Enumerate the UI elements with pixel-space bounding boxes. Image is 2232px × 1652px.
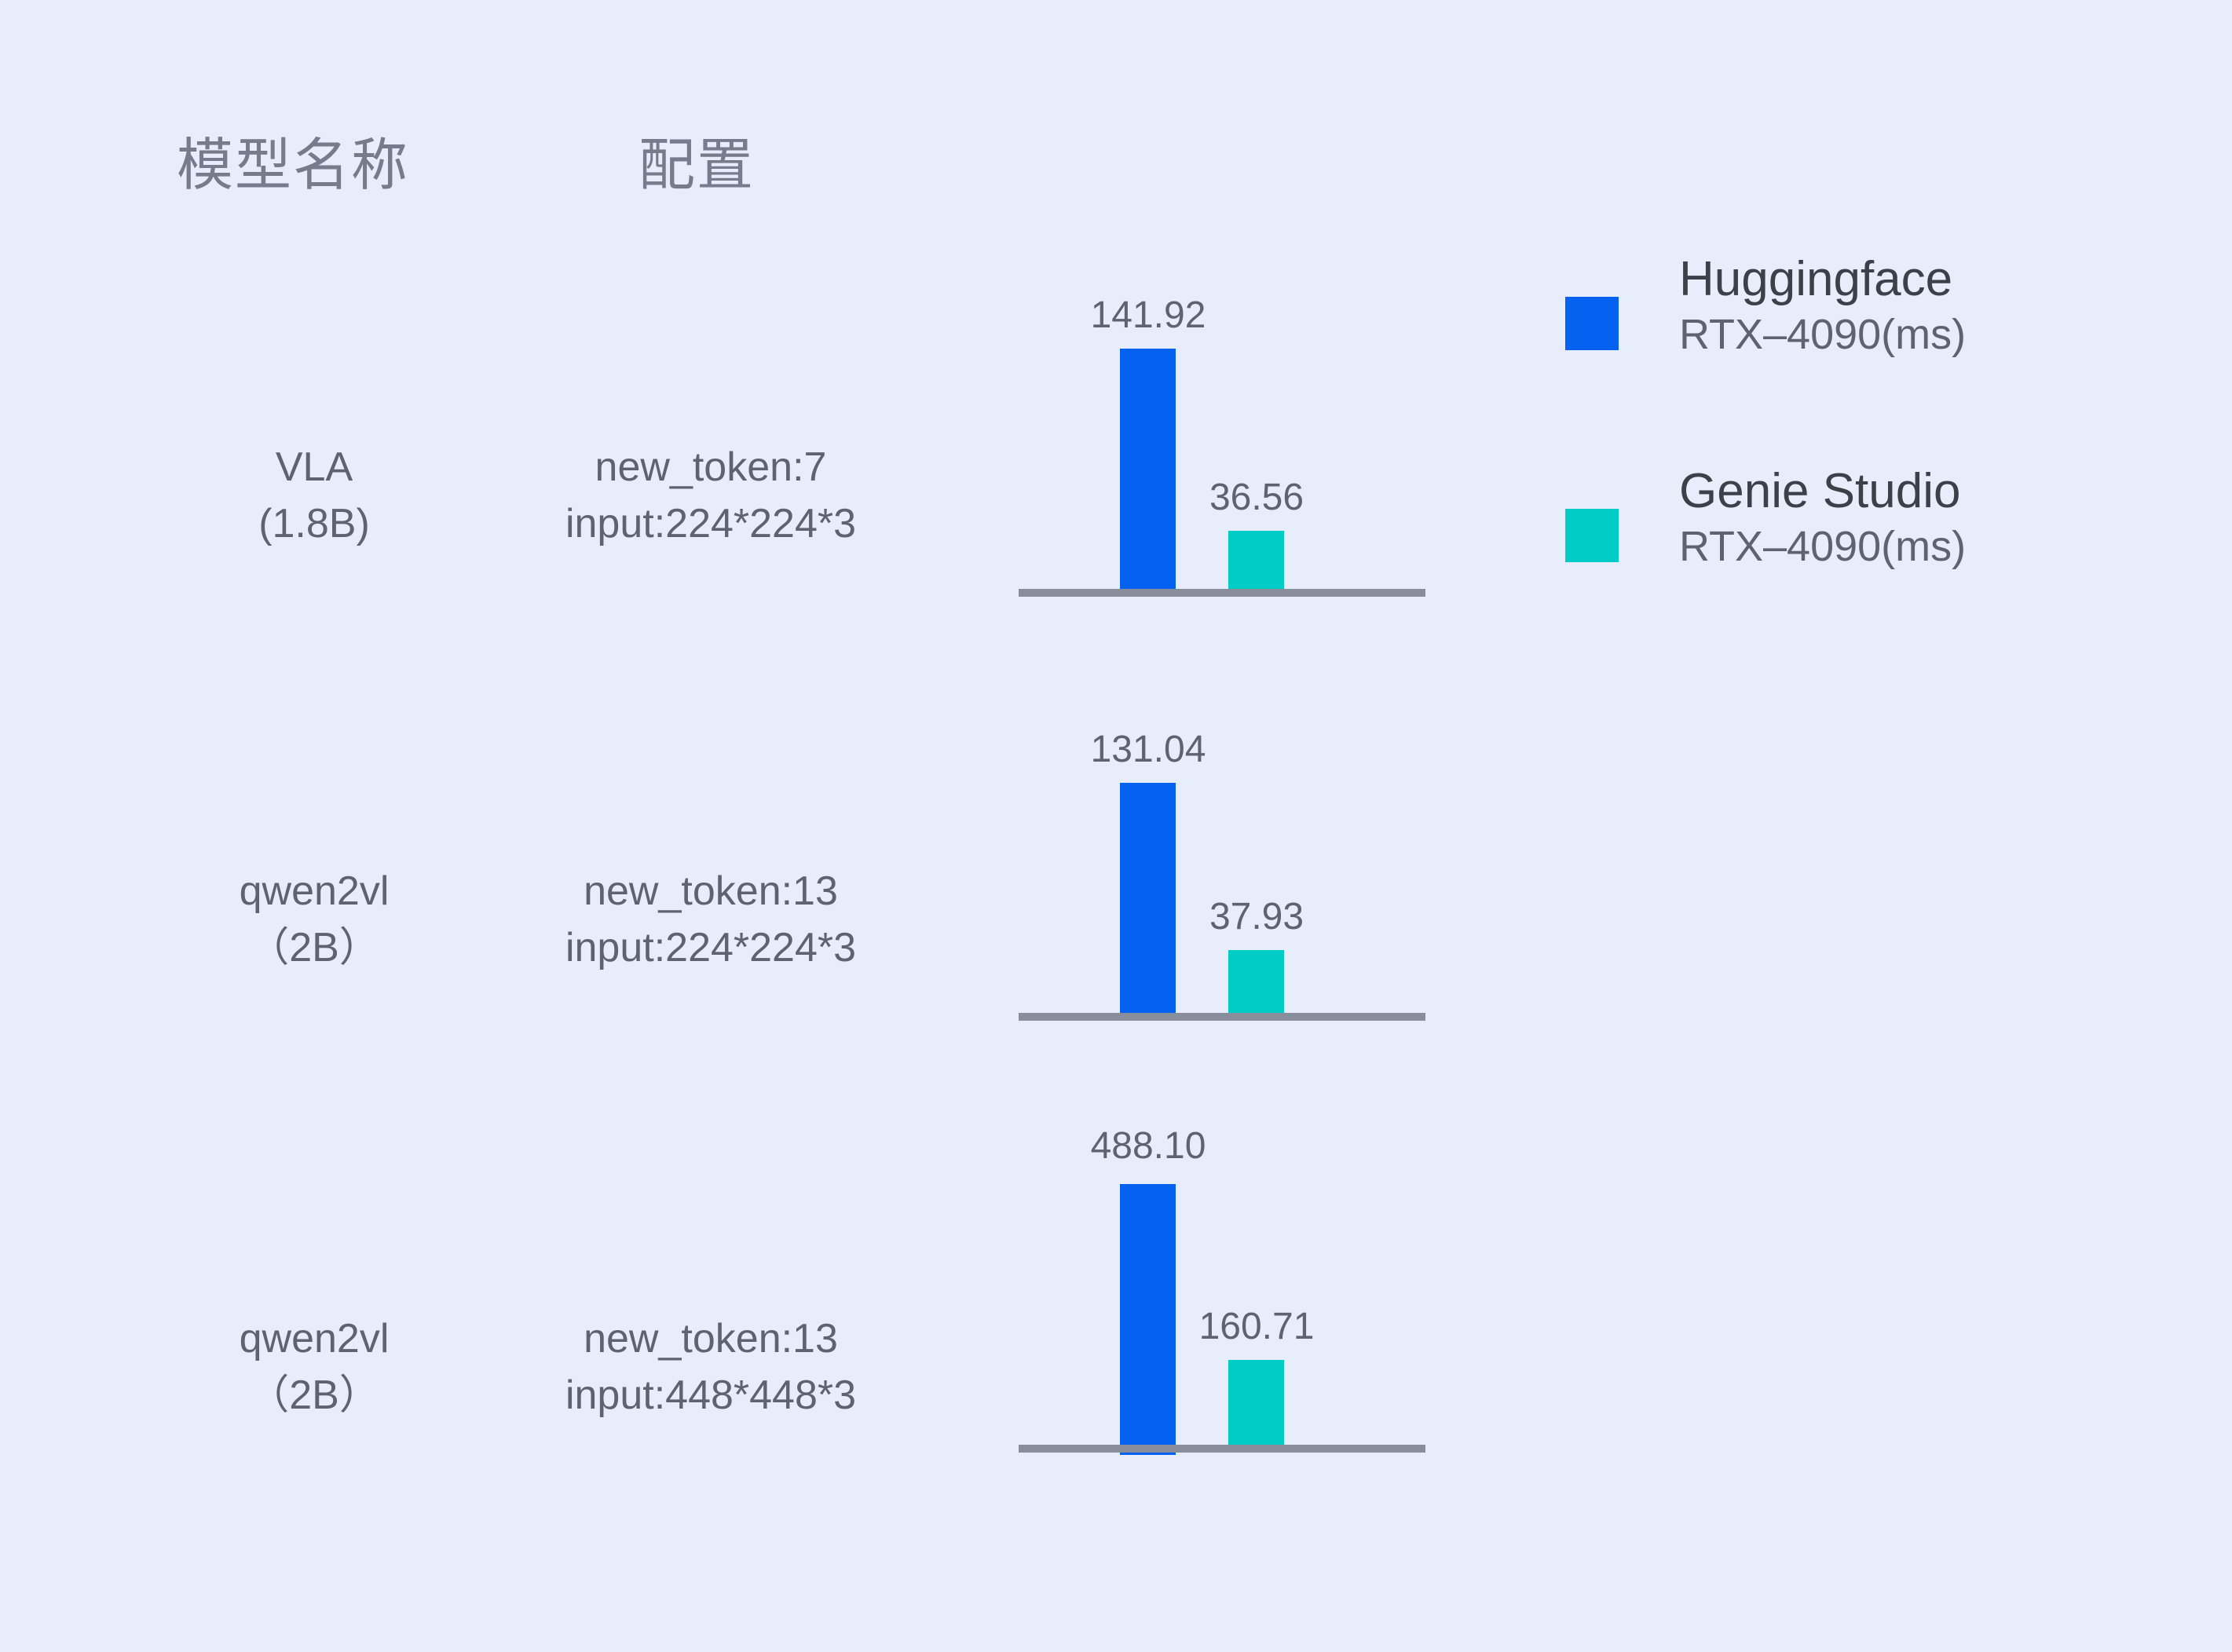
legend-swatch-square-icon [1565,509,1619,562]
panel-baseline [1019,1445,1425,1453]
bar-panel: 141.92 36.56 [1019,298,1425,605]
model-name-line-2: (1.8B) [258,496,370,553]
legend-series-name: Huggingface [1679,251,1966,307]
legend-series-name: Genie Studio [1679,463,1966,519]
config-line-2: input:224*224*3 [565,496,856,553]
bar-genie-studio [1228,531,1284,594]
bar-value-genie-studio: 160.71 [1199,1308,1315,1346]
bar-panel: 488.10 160.71 [1019,1131,1425,1460]
model-name-line-2: （2B） [240,1368,390,1424]
chart-page: 模型名称 配置 VLA (1.8B) new_token:7 input:224… [0,0,2232,1652]
model-name-line-2: （2B） [240,920,390,977]
bar-huggingface [1120,783,1176,1018]
config-cell: new_token:13 input:448*448*3 [565,1311,856,1424]
bar-value-huggingface: 488.10 [1091,1128,1206,1165]
legend-swatch-square-icon [1565,297,1619,350]
config-line-2: input:224*224*3 [565,920,856,977]
model-name-cell: qwen2vl （2B） [240,1311,390,1424]
model-name-line-1: qwen2vl [240,868,390,914]
config-line-1: new_token:13 [584,868,838,914]
bar-value-huggingface: 141.92 [1091,297,1206,334]
model-name-line-1: VLA [276,444,353,490]
legend-label: Huggingface RTX–4090(ms) [1679,251,1966,362]
config-cell: new_token:7 input:224*224*3 [565,440,856,553]
model-name-cell: VLA (1.8B) [258,440,370,553]
column-header-model-name: 模型名称 [177,137,409,194]
bar-value-huggingface: 131.04 [1091,731,1206,769]
bar-genie-studio [1228,1360,1284,1450]
bar-genie-studio [1228,950,1284,1018]
legend-label: Genie Studio RTX–4090(ms) [1679,463,1966,574]
panel-baseline [1019,1013,1425,1021]
config-line-1: new_token:7 [595,444,827,490]
bar-value-genie-studio: 36.56 [1209,479,1304,517]
config-cell: new_token:13 input:224*224*3 [565,864,856,977]
column-header-config: 配置 [638,137,755,194]
panel-baseline [1019,589,1425,597]
config-line-2: input:448*448*3 [565,1368,856,1424]
bar-huggingface [1120,349,1176,594]
legend-series-sublabel: RTX–4090(ms) [1679,307,1966,362]
model-name-cell: qwen2vl （2B） [240,864,390,977]
bar-panel: 131.04 37.93 [1019,722,1425,1029]
bar-huggingface [1120,1184,1176,1455]
model-name-line-1: qwen2vl [240,1316,390,1361]
config-line-1: new_token:13 [584,1316,838,1361]
bar-value-genie-studio: 37.93 [1209,898,1304,936]
legend-series-sublabel: RTX–4090(ms) [1679,519,1966,574]
